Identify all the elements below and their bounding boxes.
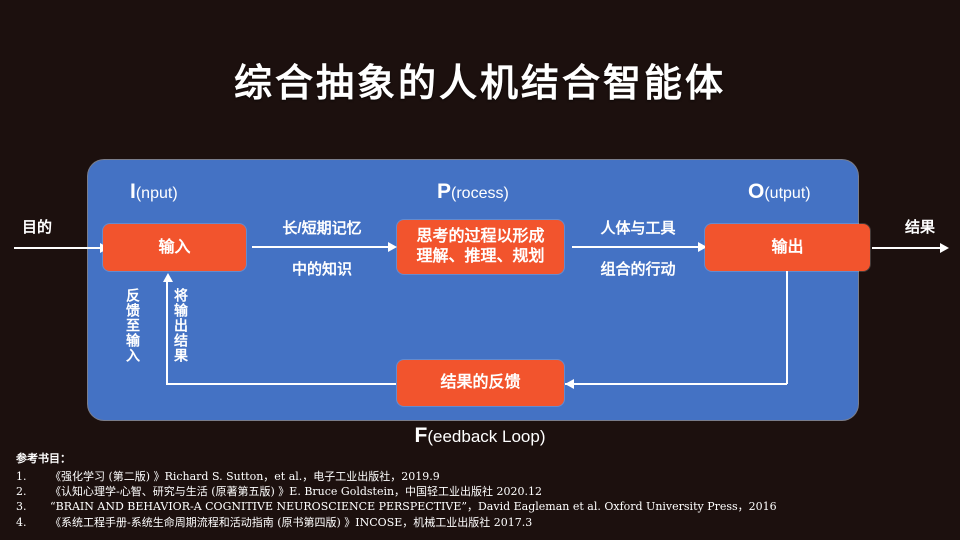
feedback-loop-suffix: (eedback Loop) [427, 427, 545, 446]
feedback-loop-prefix: F [415, 424, 428, 447]
box-feedback[interactable]: 结果的反馈 [397, 360, 564, 406]
edge-label-memory-line1: 长/短期记忆 [252, 217, 392, 238]
feedback-loop-label: F(eedback Loop) [0, 424, 960, 448]
feedback-line-to-box-right [565, 383, 787, 385]
reference-number: 2. [16, 484, 50, 499]
reference-number: 3. [16, 499, 50, 514]
feedback-arrow-head-up [163, 273, 173, 282]
stage-label-process: P(rocess) [437, 180, 509, 204]
edge-label-memory-line2: 中的知识 [252, 258, 392, 279]
stage-prefix-output: O [748, 180, 764, 203]
references-heading: 参考书目： [16, 450, 946, 466]
page-title: 综合抽象的人机结合智能体 [0, 52, 960, 107]
stage-suffix-output: (utput) [764, 185, 810, 202]
reference-text: “BRAIN AND BEHAVIOR-A COGNITIVE NEUROSCI… [50, 499, 777, 514]
reference-item: 4. 《系统工程手册-系统生命周期流程和活动指南 (原书第四版) 》INCOSE… [16, 515, 946, 530]
stage-label-output: O(utput) [748, 180, 811, 204]
memory-arrow-line [252, 246, 390, 248]
reference-number: 4. [16, 515, 50, 530]
feedback-label-right: 将输出结果 [174, 288, 188, 363]
feedback-arrow-head-right [565, 379, 574, 389]
reference-item: 1. 《强化学习 (第二版) 》Richard S. Sutton，et al.… [16, 469, 946, 484]
reference-item: 3. “BRAIN AND BEHAVIOR-A COGNITIVE NEURO… [16, 499, 946, 514]
memory-arrow-head [388, 242, 397, 252]
entry-arrow-line [14, 247, 102, 249]
exit-label: 结果 [905, 216, 935, 237]
feedback-line-to-riser [166, 383, 396, 385]
reference-number: 1. [16, 469, 50, 484]
box-output[interactable]: 输出 [705, 224, 870, 271]
box-process-line1: 思考的过程以形成 [416, 227, 544, 247]
box-input[interactable]: 输入 [103, 224, 246, 271]
box-process[interactable]: 思考的过程以形成 理解、推理、规划 [397, 220, 564, 274]
exit-arrow-head [940, 243, 949, 253]
reference-text: 《强化学习 (第二版) 》Richard S. Sutton，et al.，电子… [50, 469, 440, 484]
stage-suffix-process: (rocess) [451, 185, 509, 202]
feedback-label-left: 反馈至输入 [126, 288, 140, 363]
edge-label-action-line1: 人体与工具 [576, 217, 700, 238]
reference-text: 《系统工程手册-系统生命周期流程和活动指南 (原书第四版) 》INCOSE，机械… [50, 515, 532, 530]
reference-item: 2. 《认知心理学-心智、研究与生活 (原著第五版) 》E. Bruce Gol… [16, 484, 946, 499]
box-process-line2: 理解、推理、规划 [416, 247, 544, 267]
exit-arrow-line [872, 247, 942, 249]
stage-label-input: I(nput) [130, 180, 178, 204]
action-arrow-line [572, 246, 700, 248]
slide-canvas: 综合抽象的人机结合智能体 I(nput) P(rocess) O(utput) … [0, 0, 960, 540]
feedback-line-up [166, 277, 168, 384]
edge-label-action-line2: 组合的行动 [576, 258, 700, 279]
stage-prefix-process: P [437, 180, 451, 203]
stage-suffix-input: (nput) [136, 185, 178, 202]
feedback-line-down [786, 271, 788, 384]
entry-label: 目的 [22, 216, 52, 237]
references-section: 参考书目： 1. 《强化学习 (第二版) 》Richard S. Sutton，… [16, 450, 946, 530]
reference-text: 《认知心理学-心智、研究与生活 (原著第五版) 》E. Bruce Goldst… [50, 484, 542, 499]
